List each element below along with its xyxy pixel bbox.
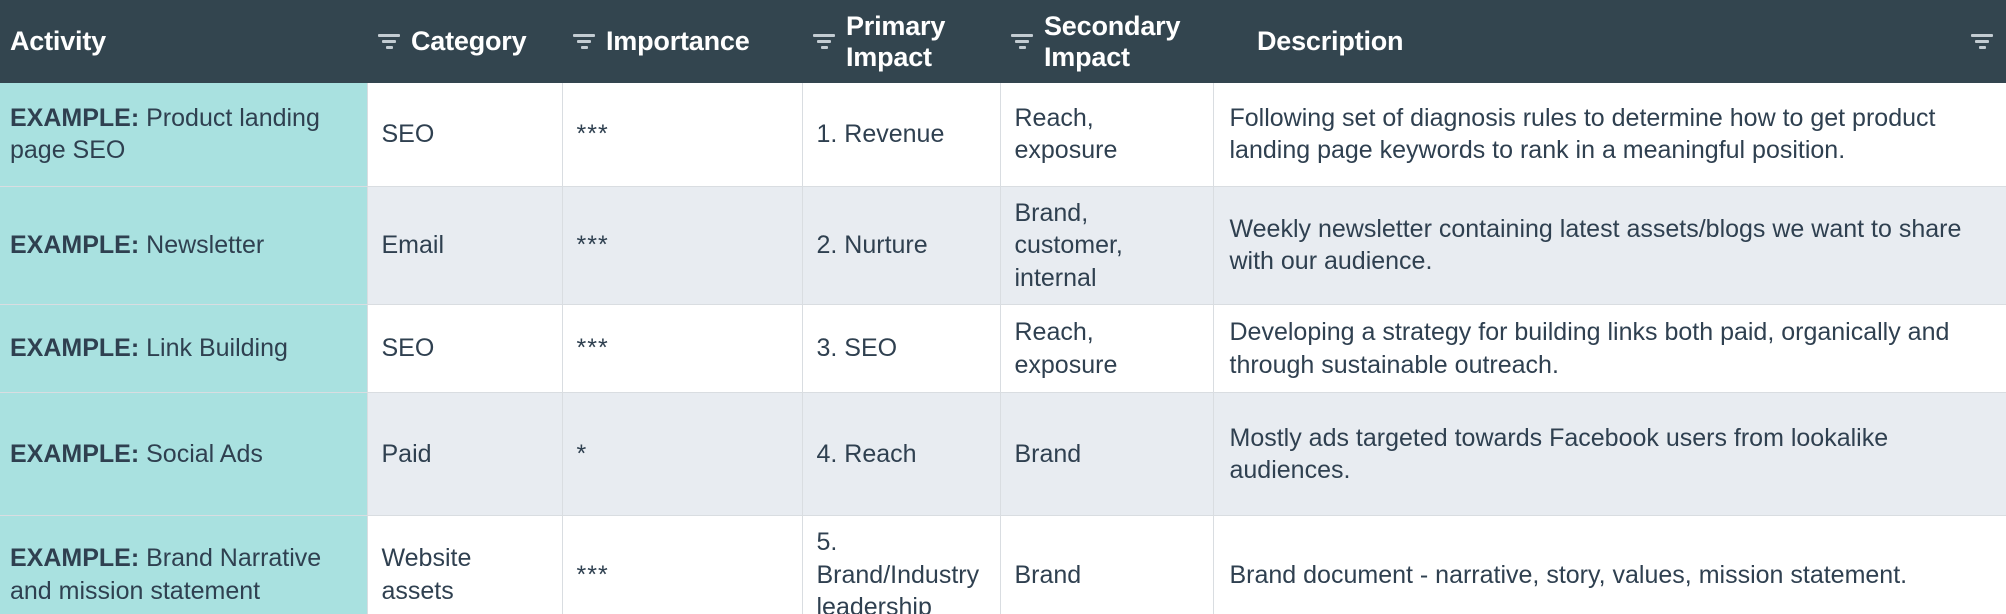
column-header-importance[interactable]: Importance (562, 0, 802, 83)
filter-icon[interactable] (812, 33, 836, 51)
column-header-label: Primary Impact (846, 11, 990, 71)
column-header-secondary-impact[interactable]: Secondary Impact (1000, 0, 1213, 83)
cell-description[interactable]: Weekly newsletter containing latest asse… (1213, 186, 2006, 305)
cell-primary-impact[interactable]: 2. Nurture (802, 186, 1000, 305)
cell-importance[interactable]: *** (562, 186, 802, 305)
cell-category[interactable]: Email (367, 186, 562, 305)
cell-importance[interactable]: *** (562, 516, 802, 614)
column-header-label: Category (411, 26, 552, 56)
spreadsheet-table-view: Activity Category Importance Primary Imp… (0, 0, 2006, 614)
activities-table: Activity Category Importance Primary Imp… (0, 0, 2006, 614)
activity-text: Newsletter (139, 231, 264, 259)
column-header-label: Secondary Impact (1044, 11, 1203, 71)
cell-category[interactable]: SEO (367, 83, 562, 186)
table-body: EXAMPLE: Product landing page SEO SEO **… (0, 83, 2006, 614)
example-tag: EXAMPLE: (10, 544, 139, 572)
example-tag: EXAMPLE: (10, 104, 139, 132)
example-tag: EXAMPLE: (10, 334, 139, 362)
cell-activity[interactable]: EXAMPLE: Brand Narrative and mission sta… (0, 516, 367, 614)
cell-primary-impact[interactable]: 5. Brand/Industry leadership (802, 516, 1000, 614)
filter-icon[interactable] (572, 33, 596, 51)
cell-importance[interactable]: *** (562, 83, 802, 186)
table-row[interactable]: EXAMPLE: Product landing page SEO SEO **… (0, 83, 2006, 186)
cell-description[interactable]: Following set of diagnosis rules to dete… (1213, 83, 2006, 186)
header-row: Activity Category Importance Primary Imp… (0, 0, 2006, 83)
column-header-primary-impact[interactable]: Primary Impact (802, 0, 1000, 83)
cell-primary-impact[interactable]: 3. SEO (802, 305, 1000, 393)
filter-icon[interactable] (1010, 33, 1034, 51)
cell-secondary-impact[interactable]: Reach, exposure (1000, 305, 1213, 393)
cell-description[interactable]: Mostly ads targeted towards Facebook use… (1213, 393, 2006, 516)
cell-activity[interactable]: EXAMPLE: Social Ads (0, 393, 367, 516)
cell-primary-impact[interactable]: 1. Revenue (802, 83, 1000, 186)
cell-secondary-impact[interactable]: Brand (1000, 393, 1213, 516)
cell-secondary-impact[interactable]: Brand, customer, internal (1000, 186, 1213, 305)
cell-category[interactable]: SEO (367, 305, 562, 393)
example-tag: EXAMPLE: (10, 231, 139, 259)
column-header-description[interactable]: Description (1213, 0, 2006, 83)
column-header-category[interactable]: Category (367, 0, 562, 83)
activity-text: Link Building (139, 334, 288, 362)
cell-category[interactable]: Website assets (367, 516, 562, 614)
table-row[interactable]: EXAMPLE: Link Building SEO *** 3. SEO Re… (0, 305, 2006, 393)
cell-activity[interactable]: EXAMPLE: Newsletter (0, 186, 367, 305)
table-header: Activity Category Importance Primary Imp… (0, 0, 2006, 83)
activity-text: Social Ads (139, 440, 263, 468)
cell-activity[interactable]: EXAMPLE: Link Building (0, 305, 367, 393)
column-header-label: Importance (606, 26, 792, 56)
column-header-label: Description (1257, 26, 1996, 56)
cell-secondary-impact[interactable]: Brand (1000, 516, 1213, 614)
column-header-label: Activity (10, 26, 357, 56)
example-tag: EXAMPLE: (10, 440, 139, 468)
table-row[interactable]: EXAMPLE: Brand Narrative and mission sta… (0, 516, 2006, 614)
cell-category[interactable]: Paid (367, 393, 562, 516)
column-header-activity[interactable]: Activity (0, 0, 367, 83)
cell-importance[interactable]: * (562, 393, 802, 516)
filter-icon[interactable] (377, 33, 401, 51)
filter-icon[interactable] (1970, 33, 1994, 51)
cell-importance[interactable]: *** (562, 305, 802, 393)
cell-description[interactable]: Brand document - narrative, story, value… (1213, 516, 2006, 614)
cell-description[interactable]: Developing a strategy for building links… (1213, 305, 2006, 393)
cell-secondary-impact[interactable]: Reach, exposure (1000, 83, 1213, 186)
cell-activity[interactable]: EXAMPLE: Product landing page SEO (0, 83, 367, 186)
table-row[interactable]: EXAMPLE: Newsletter Email *** 2. Nurture… (0, 186, 2006, 305)
cell-primary-impact[interactable]: 4. Reach (802, 393, 1000, 516)
table-row[interactable]: EXAMPLE: Social Ads Paid * 4. Reach Bran… (0, 393, 2006, 516)
